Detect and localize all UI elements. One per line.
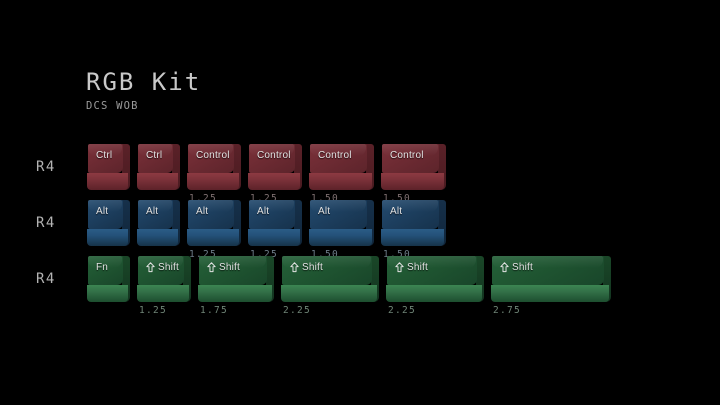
keycap[interactable]: Alt1.50 xyxy=(308,199,374,247)
keycap-front-face xyxy=(248,229,300,246)
keycap-front-face xyxy=(309,173,372,190)
keycap-legend: Shift xyxy=(395,262,428,273)
keycap-legend-text: Shift xyxy=(512,262,533,273)
keycap[interactable]: Alt xyxy=(86,199,130,247)
keycap-legend: Shift xyxy=(290,262,323,273)
keycap-legend-text: Control xyxy=(257,150,291,161)
keycap-legend-text: Alt xyxy=(96,206,108,217)
keycap-top-face xyxy=(188,200,234,229)
row-profile-label: R4 xyxy=(36,215,56,231)
keycap-legend-text: Ctrl xyxy=(146,150,162,161)
keycap[interactable]: Control1.50 xyxy=(380,143,446,191)
keycap-legend: Shift xyxy=(146,262,179,273)
keycap[interactable]: Control1.25 xyxy=(186,143,241,191)
keycap-legend-text: Control xyxy=(318,150,352,161)
keycap-front-face xyxy=(87,173,128,190)
keycap-front-face xyxy=(248,173,300,190)
keycap[interactable]: Control1.50 xyxy=(308,143,374,191)
keycap[interactable]: Alt xyxy=(136,199,180,247)
keycap-legend: Alt xyxy=(257,206,269,217)
keycap-size-label: 2.25 xyxy=(283,305,311,316)
keycap[interactable]: Shift2.25 xyxy=(385,255,484,303)
keycap-size-label: 2.25 xyxy=(388,305,416,316)
keycap-front-face xyxy=(87,229,128,246)
keycap-legend: Alt xyxy=(146,206,158,217)
keycap[interactable]: Shift1.75 xyxy=(197,255,274,303)
keycap-front-face xyxy=(137,229,178,246)
keycap-size-label: 1.25 xyxy=(139,305,167,316)
keycap[interactable]: Ctrl xyxy=(86,143,130,191)
keycap-legend-text: Ctrl xyxy=(96,150,112,161)
keycap[interactable]: Shift2.75 xyxy=(490,255,611,303)
keycap-legend: Fn xyxy=(96,262,108,273)
keycap-kit-canvas: RGB Kit DCS WOB R4CtrlCtrlControl1.25Con… xyxy=(0,0,720,405)
keycap-legend: Control xyxy=(318,150,352,161)
keycap-size-label: 2.75 xyxy=(493,305,521,316)
keycap-legend-text: Alt xyxy=(390,206,402,217)
row-profile-label: R4 xyxy=(36,159,56,175)
keycap-legend: Control xyxy=(390,150,424,161)
keycap[interactable]: Ctrl xyxy=(136,143,180,191)
keycap-front-face xyxy=(187,229,239,246)
keycap-legend-text: Shift xyxy=(158,262,179,273)
keycap[interactable]: Fn xyxy=(86,255,130,303)
keycap-front-face xyxy=(187,173,239,190)
kit-header: RGB Kit DCS WOB xyxy=(86,68,201,113)
keycap-legend: Control xyxy=(257,150,291,161)
row-profile-label: R4 xyxy=(36,271,56,287)
keycap-front-face xyxy=(309,229,372,246)
keycap-front-face xyxy=(137,173,178,190)
shift-arrow-icon xyxy=(290,262,299,273)
keycap-legend-text: Fn xyxy=(96,262,108,273)
keycap[interactable]: Alt1.25 xyxy=(186,199,241,247)
shift-arrow-icon xyxy=(395,262,404,273)
keycap-legend-text: Shift xyxy=(302,262,323,273)
shift-arrow-icon xyxy=(146,262,155,273)
page-title: RGB Kit xyxy=(86,68,201,96)
keycap[interactable]: Shift2.25 xyxy=(280,255,379,303)
keycap-legend: Shift xyxy=(500,262,533,273)
keycap-front-face xyxy=(381,229,444,246)
keycap-legend: Shift xyxy=(207,262,240,273)
keycap[interactable]: Control1.25 xyxy=(247,143,302,191)
keycap-legend-text: Alt xyxy=(196,206,208,217)
keycap-legend: Alt xyxy=(390,206,402,217)
keycap-size-label: 1.75 xyxy=(200,305,228,316)
keycap-legend: Ctrl xyxy=(146,150,162,161)
keycap-legend-text: Shift xyxy=(407,262,428,273)
keycap[interactable]: Shift1.25 xyxy=(136,255,191,303)
keycap-legend-text: Control xyxy=(196,150,230,161)
keycap-legend: Ctrl xyxy=(96,150,112,161)
keycap-front-face xyxy=(281,285,377,302)
page-subtitle: DCS WOB xyxy=(86,99,201,113)
keycap-legend: Alt xyxy=(318,206,330,217)
shift-arrow-icon xyxy=(207,262,216,273)
shift-arrow-icon xyxy=(500,262,509,273)
keycap-front-face xyxy=(87,285,128,302)
keycap-legend-text: Alt xyxy=(146,206,158,217)
keycap-legend: Control xyxy=(196,150,230,161)
keycap-front-face xyxy=(137,285,189,302)
keycap[interactable]: Alt1.25 xyxy=(247,199,302,247)
keycap-legend-text: Shift xyxy=(219,262,240,273)
keycap-front-face xyxy=(198,285,272,302)
keycap-top-face xyxy=(249,200,295,229)
keycap-legend-text: Alt xyxy=(257,206,269,217)
keycap-legend: Alt xyxy=(196,206,208,217)
keycap-front-face xyxy=(386,285,482,302)
keycap-legend-text: Control xyxy=(390,150,424,161)
keycap-front-face xyxy=(381,173,444,190)
keycap-legend-text: Alt xyxy=(318,206,330,217)
keycap[interactable]: Alt1.50 xyxy=(380,199,446,247)
keycap-legend: Alt xyxy=(96,206,108,217)
keycap-front-face xyxy=(491,285,609,302)
